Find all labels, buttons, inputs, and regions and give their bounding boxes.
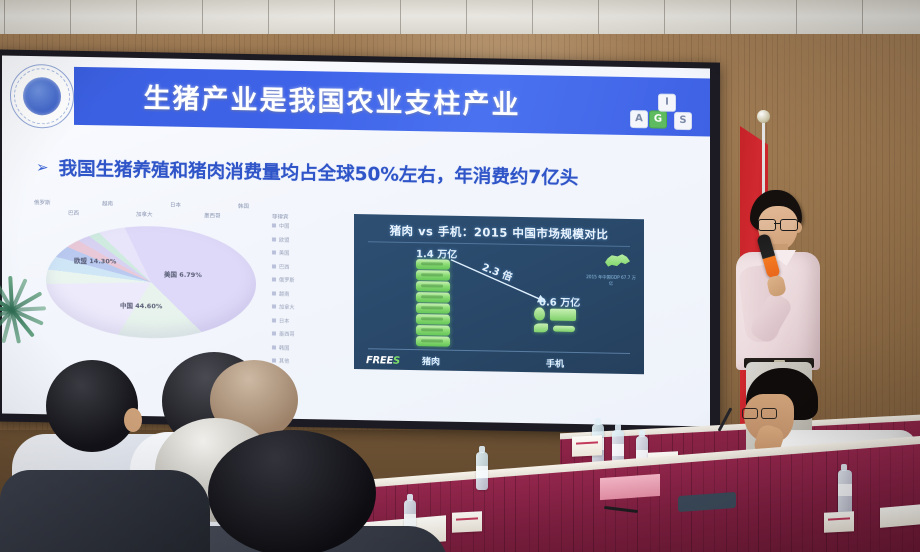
pig-icon <box>416 259 450 270</box>
pig-icon <box>416 336 450 347</box>
pig-icon <box>416 270 450 281</box>
chart-baseline-axis <box>368 348 630 354</box>
pie-label-us: 美国 6.79% <box>164 268 202 279</box>
pie-legend-item: 加拿大 <box>272 303 352 311</box>
pig-icon <box>416 303 450 314</box>
apple-logo-icon <box>534 307 545 320</box>
attendee-glasses-icon <box>742 408 776 417</box>
water-bottle <box>476 452 488 490</box>
chart-category-pork: 猪肉 <box>422 354 440 367</box>
pie-legend-item: 墨西哥 <box>272 330 352 338</box>
china-map-icon <box>604 253 630 271</box>
presenter-glasses-icon <box>758 219 798 229</box>
audience-body <box>0 470 210 552</box>
pie-leader-label: 日本 <box>170 201 181 209</box>
audience-member-5 <box>188 430 418 552</box>
vivo-logo-icon <box>553 325 575 331</box>
pie-label-eu: 欧盟 14.30% <box>74 255 116 266</box>
pie-disc <box>46 224 256 340</box>
pie-leader-label: 韩国 <box>238 202 249 210</box>
pie-leader-label: 墨西哥 <box>204 211 221 219</box>
name-card <box>452 511 482 533</box>
ags-tile-logo-icon: A G I S <box>630 93 692 138</box>
conference-room-scene: A G I S 生猪产业是我国农业支柱产业 ➢ 我国生猪养殖和猪肉消费量均占全球… <box>0 0 920 552</box>
pie-leader-label: 巴西 <box>68 209 79 217</box>
frees-brand-logo: FREES <box>366 355 400 367</box>
emblem-ring <box>14 68 70 125</box>
pie-leader-label: 俄罗斯 <box>34 198 51 206</box>
audience-head <box>208 430 376 552</box>
pie-legend-item: 欧盟 <box>272 236 352 244</box>
phone-brand-logos <box>534 307 604 336</box>
pie-leader-label: 加拿大 <box>136 210 153 218</box>
name-card <box>572 435 602 457</box>
pie-legend-item: 俄罗斯 <box>272 276 352 284</box>
ags-tile-s: S <box>674 112 692 130</box>
pig-icon <box>416 325 450 336</box>
ags-tile-g: G <box>649 110 667 128</box>
ags-tile-a: A <box>630 110 648 128</box>
bullet-marker-icon: ➢ <box>36 160 49 175</box>
audience-head <box>46 360 138 452</box>
potted-plant <box>0 268 48 368</box>
pie-legend-item: 美国 <box>272 249 352 257</box>
flag-pole-finial <box>757 110 770 123</box>
audience-member-6 <box>0 470 210 552</box>
pie-label-china: 中国 44.60% <box>120 300 162 311</box>
ags-tile-i: I <box>658 94 676 112</box>
comparison-chart-title: 猪肉 vs 手机：2015 中国市场规模对比 <box>354 222 644 243</box>
water-bottle <box>838 470 852 516</box>
pie-leader-label: 菲律宾 <box>272 212 289 220</box>
pig-icon <box>416 314 450 325</box>
pig-icon <box>416 281 450 292</box>
pie-chart-legend: 中国欧盟美国巴西俄罗斯越南加拿大日本墨西哥韩国其他 <box>272 222 352 372</box>
slide-bullet-row: ➢ 我国生猪养殖和猪肉消费量均占全球50%左右，年消费约7亿头 <box>36 154 686 192</box>
document-sheet <box>880 504 920 528</box>
pie-legend-item: 日本 <box>272 317 352 325</box>
pie-legend-item: 中国 <box>272 222 352 230</box>
phone-logo-row-2 <box>534 323 604 333</box>
institution-emblem-icon <box>10 64 74 129</box>
slide-bullet-text: 我国生猪养殖和猪肉消费量均占全球50%左右，年消费约7亿头 <box>59 155 579 191</box>
chart-category-phone: 手机 <box>546 356 564 369</box>
mi-logo-icon <box>550 308 576 320</box>
pie-legend-item: 越南 <box>272 290 352 298</box>
gdp-side-note: 2015 年中国GDP 67.7 万亿 <box>586 274 636 288</box>
name-card <box>824 511 854 533</box>
pie-legend-item: 巴西 <box>272 263 352 271</box>
huawei-logo-icon <box>534 323 548 332</box>
pie-leader-label: 越南 <box>102 199 113 207</box>
phone-logo-row-1 <box>534 307 604 321</box>
pork-bar-pig-icons <box>416 259 450 348</box>
pig-icon <box>416 292 450 303</box>
pink-notepad <box>600 474 660 500</box>
market-comparison-chart: 猪肉 vs 手机：2015 中国市场规模对比 1.4 万亿 2.3 倍 0.6 … <box>354 214 644 374</box>
pie-chart-graphic: 欧盟 14.30% 美国 6.79% 中国 44.60% <box>46 224 256 356</box>
